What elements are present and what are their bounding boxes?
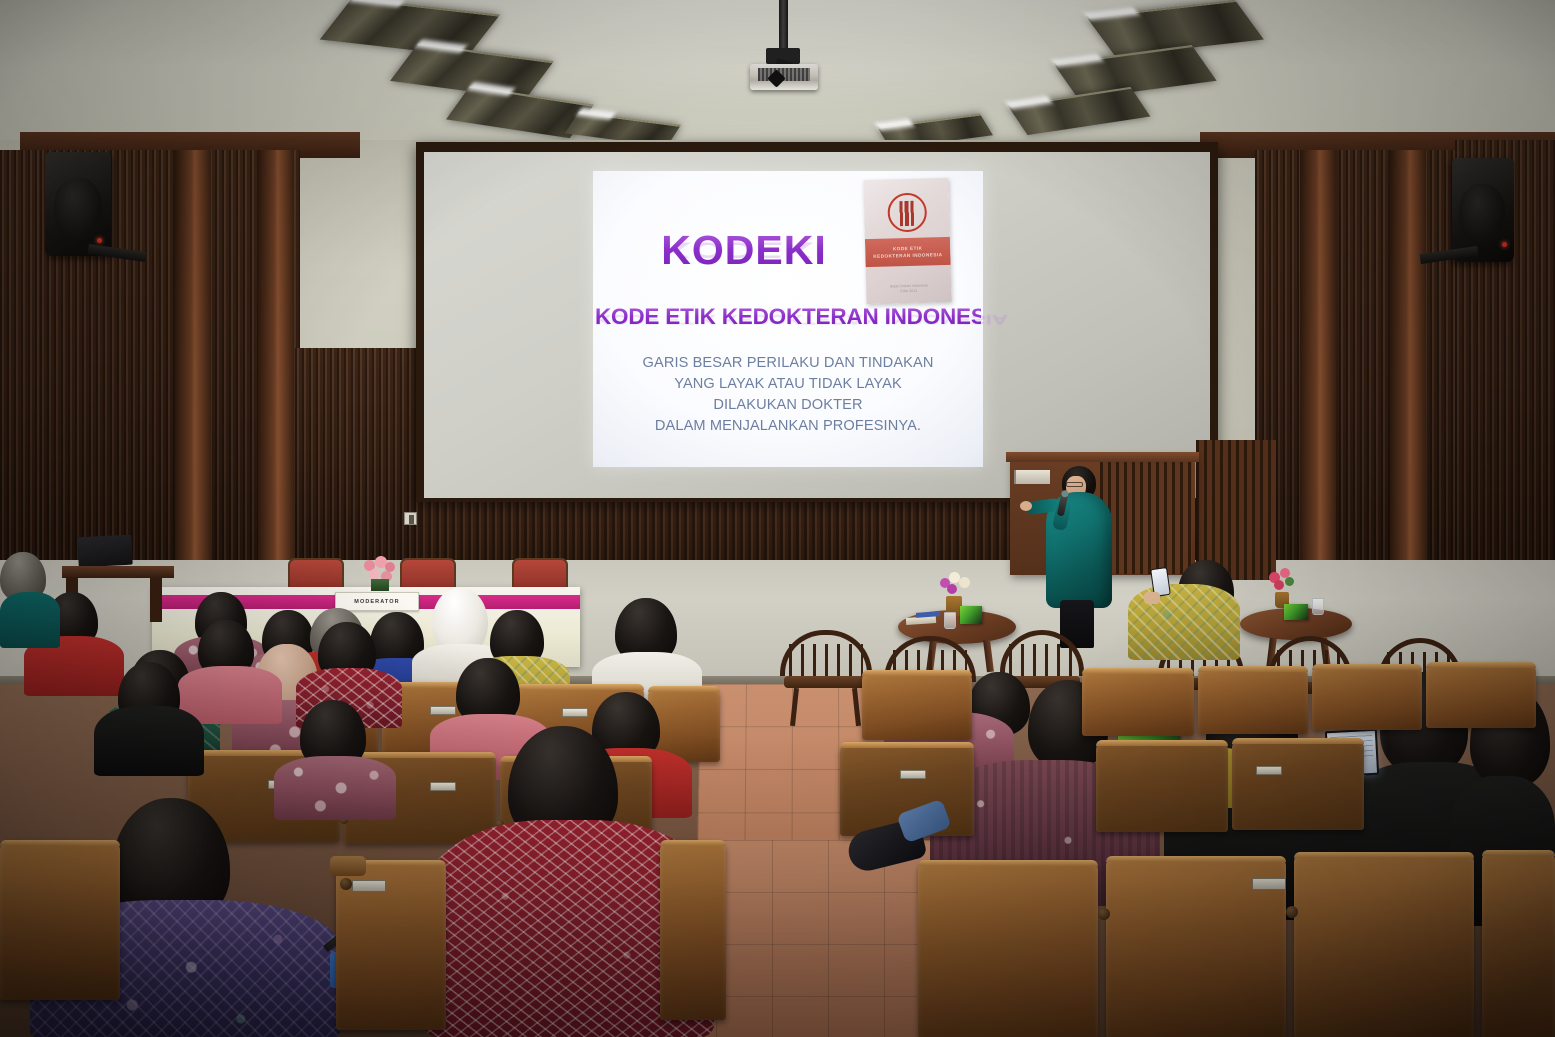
auditorium-seat[interactable] <box>1096 740 1228 832</box>
seat-rim <box>648 686 720 692</box>
seat-rim <box>1294 852 1474 858</box>
wood-column-left <box>175 150 211 570</box>
seat-rim <box>1312 664 1422 670</box>
idi-logo-icon <box>887 193 927 233</box>
wood-column-right-2 <box>1390 150 1426 570</box>
slide-body-text: GARIS BESAR PERILAKU DAN TINDAKAN YANG L… <box>593 353 983 437</box>
seat-rim <box>1482 850 1555 856</box>
glasses-icon <box>1066 482 1083 487</box>
gift-box <box>960 606 982 624</box>
wall-speaker-left <box>45 152 111 256</box>
presenter-left-hand <box>1020 501 1032 511</box>
seat-number-plate <box>430 706 456 715</box>
auditorium-seat[interactable] <box>862 670 972 740</box>
armrest-knob <box>1098 908 1110 920</box>
chair-leg <box>790 688 799 726</box>
book-cover-image: KODE ETIK KEDOKTERAN INDONESIA Ikatan Do… <box>863 178 951 304</box>
attendee-body-hijab <box>94 706 204 776</box>
bentwood-chair <box>780 630 872 725</box>
auditorium-seat[interactable] <box>1482 850 1555 1037</box>
book-cover-footer: Ikatan Dokter Indonesia Edisi 2012 <box>890 283 928 294</box>
flower-bloom <box>959 577 970 588</box>
book-cover-band: KODE ETIK KEDOKTERAN INDONESIA <box>865 237 951 267</box>
chair-leg <box>852 688 861 726</box>
chair-seat <box>784 676 868 688</box>
book-footer-line-2: Edisi 2012 <box>890 288 928 294</box>
gift-box <box>1284 604 1308 620</box>
seat-armrest <box>330 856 366 876</box>
auditorium-seat[interactable] <box>1232 738 1364 830</box>
speaker-power-led-right <box>1502 242 1507 247</box>
slide-subtitle: KODE ETIK KEDOKTERAN INDONESIA <box>595 304 981 330</box>
av-operator-table <box>62 566 174 578</box>
attendee-body <box>274 756 396 820</box>
moderator-nameplate: MODERATOR <box>335 592 419 611</box>
auditorium-seat[interactable] <box>1294 852 1474 1037</box>
wall-speaker-right <box>1452 158 1514 262</box>
auditorium-seat[interactable] <box>0 840 120 1000</box>
seat-rim <box>918 860 1098 866</box>
attendee-hand <box>1144 592 1160 604</box>
auditorium-seat[interactable] <box>1426 662 1536 728</box>
seat-rim <box>660 840 726 846</box>
wood-column-right <box>1300 150 1336 570</box>
seat-rim <box>862 670 972 676</box>
table-flower-arrangement <box>358 556 402 590</box>
av-table-leg <box>150 578 162 622</box>
seat-number-plate <box>1252 878 1286 890</box>
auditorium-seat[interactable] <box>1312 664 1422 730</box>
book-band-line-2: KEDOKTERAN INDONESIA <box>873 251 942 260</box>
seat-rim <box>1198 666 1308 672</box>
projector-mount-pole <box>779 0 788 52</box>
seat-number-plate <box>352 880 386 892</box>
wood-panel-right <box>1255 150 1470 570</box>
seat-number-plate <box>562 708 588 717</box>
wood-column-left-2 <box>258 150 294 570</box>
flower-bloom <box>947 584 957 594</box>
flower-vase <box>371 579 389 591</box>
slide-body-line: YANG LAYAK ATAU TIDAK LAYAK <box>593 374 983 395</box>
seat-rim <box>344 752 496 758</box>
flower-bloom <box>1274 580 1284 590</box>
wall-outlet-icon <box>404 512 417 525</box>
seat-rim <box>1096 740 1228 746</box>
podium-slat-detail <box>1100 462 1192 574</box>
auditorium-seat[interactable] <box>660 840 726 1020</box>
podium-top-surface <box>1006 452 1199 462</box>
seat-number-plate <box>430 782 456 791</box>
armrest-knob <box>1286 906 1298 918</box>
slide-body-line: DILAKUKAN DOKTER <box>593 395 983 416</box>
seat-number-plate <box>1256 766 1282 775</box>
seat-rim <box>1106 856 1286 862</box>
presentation-slide: KODEKI KODEKI KODE ETIK KEDOKTERAN INDON… <box>593 171 983 467</box>
flower-leaf <box>1285 577 1294 586</box>
left-table-flowers <box>938 570 972 598</box>
seat-rim <box>1426 662 1536 668</box>
auditorium-seat[interactable] <box>918 860 1098 1037</box>
speaker-cone-right-icon <box>1459 184 1505 244</box>
seat-rim <box>0 840 120 846</box>
seat-rim <box>840 742 974 748</box>
podium-side-panel <box>1196 440 1276 580</box>
slide-body-line: GARIS BESAR PERILAKU DAN TINDAKAN <box>593 353 983 374</box>
speaker-power-led <box>97 238 102 243</box>
slide-body-line: DALAM MENJALANKAN PROFESINYA. <box>593 416 983 437</box>
water-glass <box>1312 598 1324 615</box>
seat-rim <box>1082 668 1194 674</box>
speaker-cone-icon <box>54 178 102 240</box>
lecture-hall-photo: KODEKI KODEKI KODE ETIK KEDOKTERAN INDON… <box>0 0 1555 1037</box>
attendee-body <box>0 592 60 648</box>
seat-rim <box>516 684 644 690</box>
right-table-flowers <box>1266 566 1298 594</box>
seat-rim <box>1232 738 1364 744</box>
water-glass <box>944 612 956 629</box>
podium-papers <box>1014 470 1050 484</box>
armrest-knob <box>340 878 352 890</box>
auditorium-seat[interactable] <box>1198 666 1308 734</box>
av-operator-laptop[interactable] <box>77 535 132 568</box>
seat-number-plate <box>900 770 926 779</box>
auditorium-seat[interactable] <box>1082 668 1194 736</box>
